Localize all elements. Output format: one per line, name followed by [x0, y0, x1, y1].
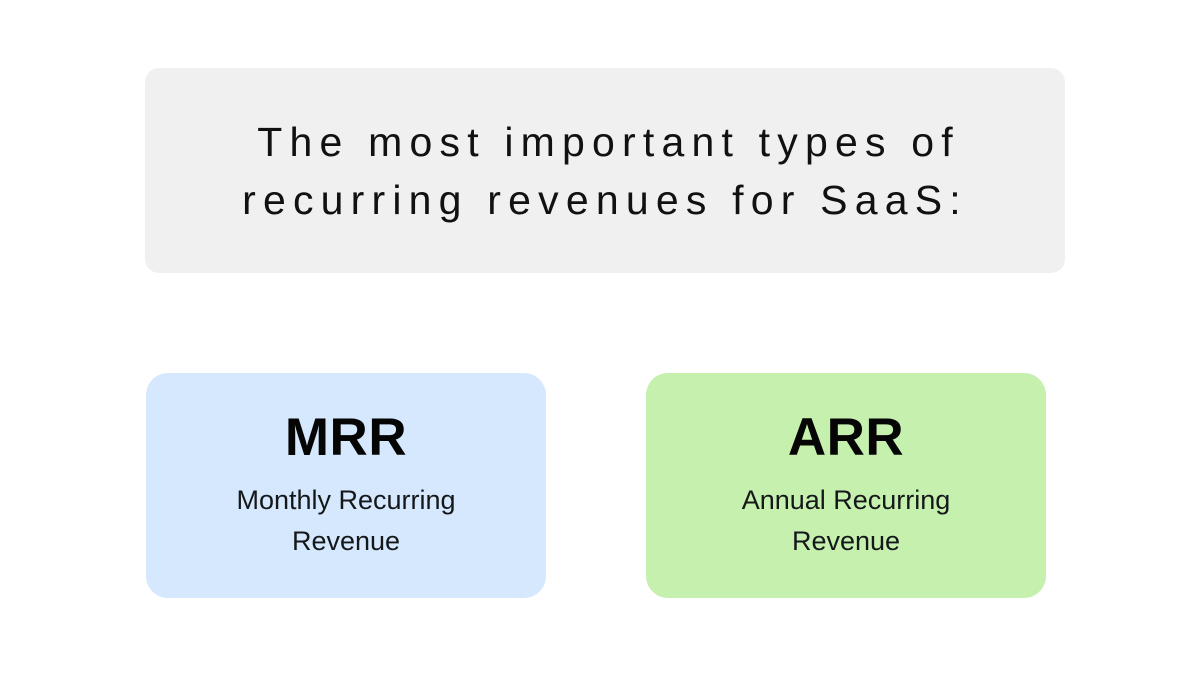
card-mrr-code: MRR	[285, 410, 407, 466]
card-mrr[interactable]: MRR Monthly Recurring Revenue	[146, 373, 546, 598]
slide-canvas: The most important types of recurring re…	[0, 0, 1200, 700]
page-title: The most important types of recurring re…	[242, 113, 968, 229]
card-arr-code: ARR	[788, 410, 904, 466]
card-mrr-caption: Monthly Recurring Revenue	[236, 480, 455, 562]
card-arr[interactable]: ARR Annual Recurring Revenue	[646, 373, 1046, 598]
card-arr-caption: Annual Recurring Revenue	[742, 480, 951, 562]
header-banner: The most important types of recurring re…	[145, 68, 1065, 273]
cards-row: MRR Monthly Recurring Revenue ARR Annual…	[146, 373, 1048, 598]
